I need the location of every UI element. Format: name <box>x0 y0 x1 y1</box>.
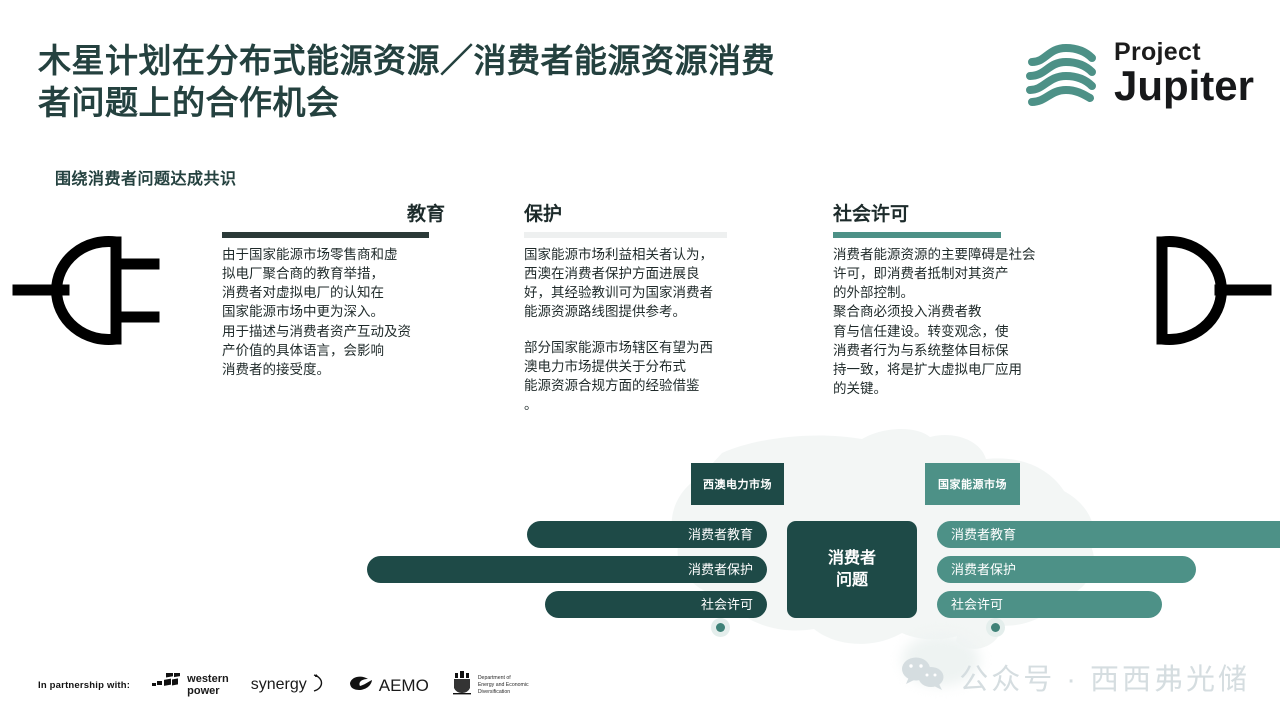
wa-government-name: Department of Energy and Economic Divers… <box>478 675 529 695</box>
center-node-consumer-issues: 消费者 问题 <box>787 521 917 618</box>
partner-western-power: western power <box>152 673 229 698</box>
wechat-watermark: 公众号 · 西西弗光储 <box>901 656 1250 698</box>
column-heading: 教育 <box>222 205 467 226</box>
node-dot-right <box>986 618 1005 637</box>
aemo-name: AEMO <box>379 677 429 694</box>
column-education: 教育 由于国家能源市场零售商和虚 拟电厂聚合商的教育举措， 消费者对虚拟电厂的认… <box>222 205 467 379</box>
plug-icon <box>8 228 168 358</box>
market-label-wa: 西澳电力市场 <box>691 463 784 505</box>
logo-line-2: Jupiter <box>1114 62 1254 109</box>
partner-wa-government: Department of Energy and Economic Divers… <box>451 671 529 700</box>
partner-label: In partnership with: <box>38 680 130 691</box>
pill-right-protection[interactable]: 消费者保护 <box>937 556 1196 583</box>
western-power-name: western power <box>187 674 229 696</box>
column-paragraph: 国家能源市场利益相关者认为， 西澳在消费者保护方面进展良 好，其经验教训可为国家… <box>524 245 774 322</box>
column-rule <box>222 232 429 238</box>
column-social-licence: 社会许可 消费者能源资源的主要障碍是社会 许可，即消费者抵制对其资产 的外部控制… <box>833 205 1081 398</box>
column-heading: 社会许可 <box>833 205 1081 226</box>
column-paragraph: 消费者能源资源的主要障碍是社会 许可，即消费者抵制对其资产 的外部控制。 聚合商… <box>833 245 1081 398</box>
market-label-nem: 国家能源市场 <box>925 463 1020 505</box>
logo-wordmark: Project Jupiter <box>1114 40 1254 107</box>
column-heading: 保护 <box>524 205 774 226</box>
pill-right-education[interactable]: 消费者教育 <box>937 521 1280 548</box>
pill-right-social-licence[interactable]: 社会许可 <box>937 591 1162 618</box>
slide-root: 木星计划在分布式能源资源／消费者能源资源消费者问题上的合作机会 Project … <box>0 0 1280 720</box>
column-paragraph: 部分国家能源市场辖区有望为西 澳电力市场提供关于分布式 能源资源合规方面的经验借… <box>524 338 774 415</box>
aemo-logo <box>348 673 374 698</box>
western-power-logo <box>152 673 182 698</box>
pill-left-education[interactable]: 消费者教育 <box>527 521 767 548</box>
project-jupiter-logo: Project Jupiter <box>1022 38 1254 108</box>
watermark-text: 公众号 · 西西弗光储 <box>959 656 1250 698</box>
column-protection: 保护 国家能源市场利益相关者认为， 西澳在消费者保护方面进展良 好，其经验教训可… <box>524 205 774 414</box>
partner-aemo: AEMO <box>348 673 429 698</box>
plug-icon-mirrored <box>1146 228 1276 358</box>
center-node-label: 消费者 问题 <box>828 548 876 591</box>
column-paragraph: 由于国家能源市场零售商和虚 拟电厂聚合商的教育举措， 消费者对虚拟电厂的认知在 … <box>222 245 467 379</box>
jupiter-wave-mark <box>1022 38 1100 108</box>
pill-left-social-licence[interactable]: 社会许可 <box>545 591 767 618</box>
consumer-issues-diagram: 西澳电力市场 国家能源市场 消费者教育 消费者保护 社会许可 消费者教育 消费者… <box>0 425 1280 660</box>
synergy-logo <box>312 673 326 698</box>
page-title: 木星计划在分布式能源资源／消费者能源资源消费者问题上的合作机会 <box>38 40 798 123</box>
partners-footer: In partnership with: western power syner… <box>38 671 529 700</box>
node-dot-left <box>711 618 730 637</box>
wa-government-crest <box>451 671 473 700</box>
synergy-name: synergy <box>251 677 307 693</box>
section-subtitle: 围绕消费者问题达成共识 <box>55 165 237 189</box>
column-rule <box>833 232 1001 238</box>
wechat-icon <box>901 656 945 698</box>
partner-synergy: synergy <box>251 673 326 698</box>
pill-left-protection[interactable]: 消费者保护 <box>367 556 767 583</box>
column-rule <box>524 232 727 238</box>
